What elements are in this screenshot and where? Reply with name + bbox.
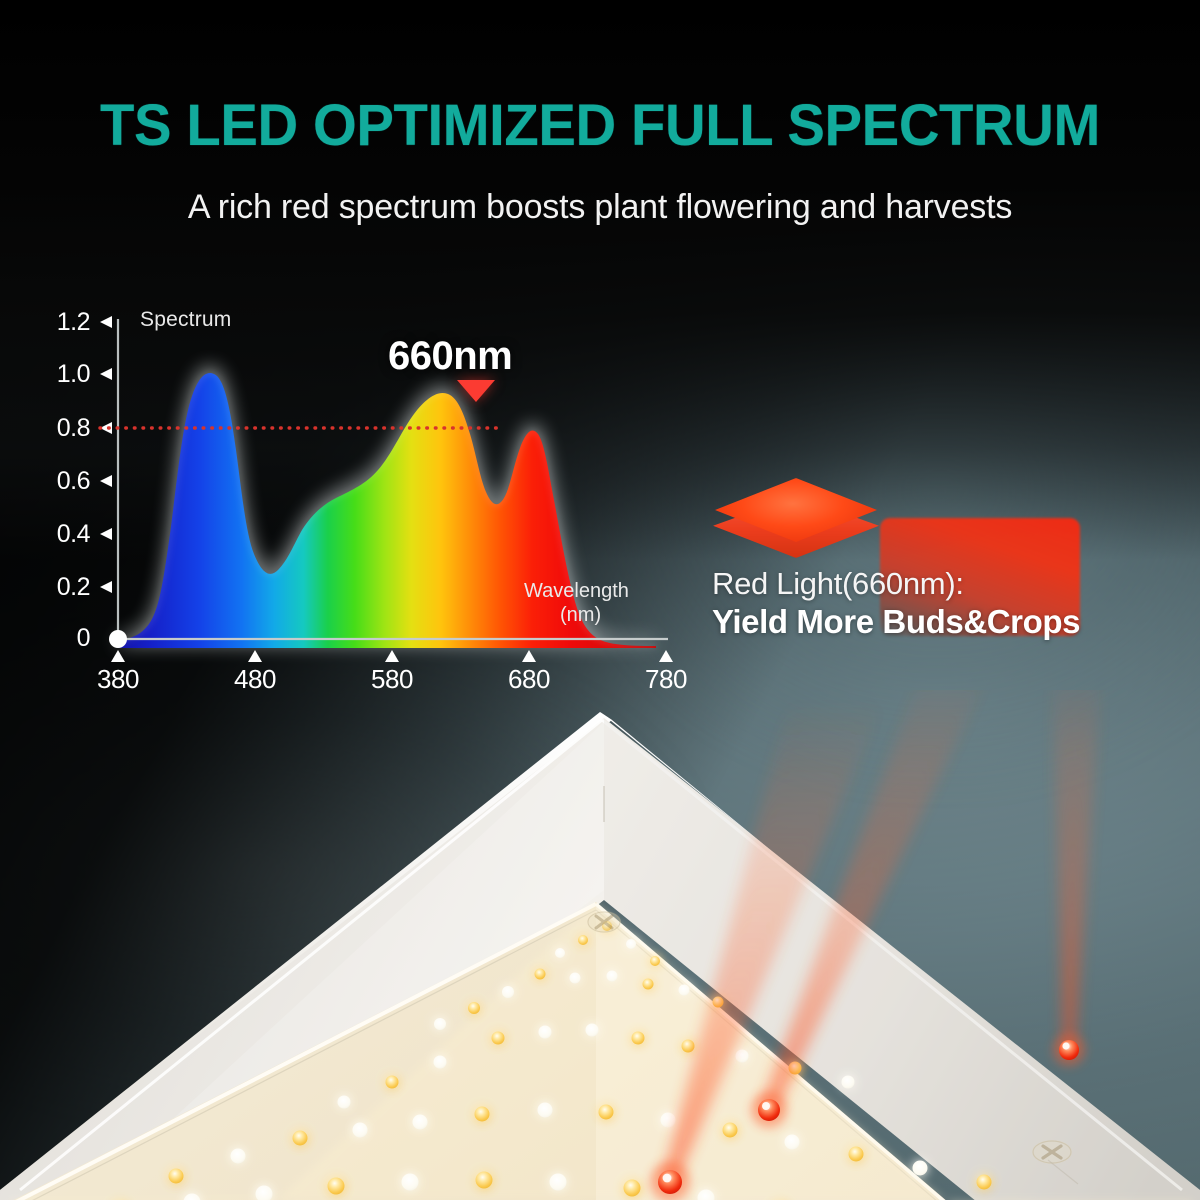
red-light-callout-line1: Red Light(660nm): <box>712 566 1142 602</box>
y-tick-label-7: 0 <box>34 624 90 653</box>
y-tick-label-5: 0.4 <box>34 520 90 549</box>
screw-bottom-right <box>1032 1140 1072 1164</box>
led-panel-svg <box>0 690 1200 1200</box>
origin-dot <box>109 630 127 648</box>
y-tick-label-3: 0.8 <box>34 414 90 443</box>
spectrum-chart-svg <box>40 292 680 692</box>
x-tick-markers <box>111 650 673 662</box>
x-axis-title-unit: (nm) <box>524 604 664 628</box>
red-light-callout-line2: Yield More Buds&Crops <box>712 603 1142 641</box>
down-triangle-icon <box>457 380 495 402</box>
page-subtitle: A rich red spectrum boosts plant floweri… <box>0 188 1200 227</box>
page-title: TS LED OPTIMIZED FULL SPECTRUM <box>18 92 1182 159</box>
peak-annotation-660nm: 660nm <box>388 334 512 379</box>
led-grow-light-panel <box>0 690 1200 1200</box>
y-tick-label-1: 1.2 <box>34 308 90 337</box>
red-light-callout: Red Light(660nm): Yield More Buds&Crops <box>712 566 1142 641</box>
y-tick-label-2: 1.0 <box>34 360 90 389</box>
y-tick-label-4: 0.6 <box>34 467 90 496</box>
red-led-chip-icon <box>707 472 885 568</box>
screw-top <box>587 911 621 933</box>
y-tick-label-6: 0.2 <box>34 573 90 602</box>
red-beam-right <box>1052 690 1102 1048</box>
promo-banner: TS LED OPTIMIZED FULL SPECTRUM A rich re… <box>0 0 1200 1200</box>
y-axis-title: Spectrum <box>140 308 231 332</box>
x-axis-title-text: Wavelength <box>524 580 629 602</box>
spectrum-chart: 1.2 1.0 0.8 0.6 0.4 0.2 0 380 480 580 68… <box>40 292 680 692</box>
y-tick-markers <box>100 316 112 593</box>
x-axis-title: Wavelength (nm) <box>524 580 664 627</box>
